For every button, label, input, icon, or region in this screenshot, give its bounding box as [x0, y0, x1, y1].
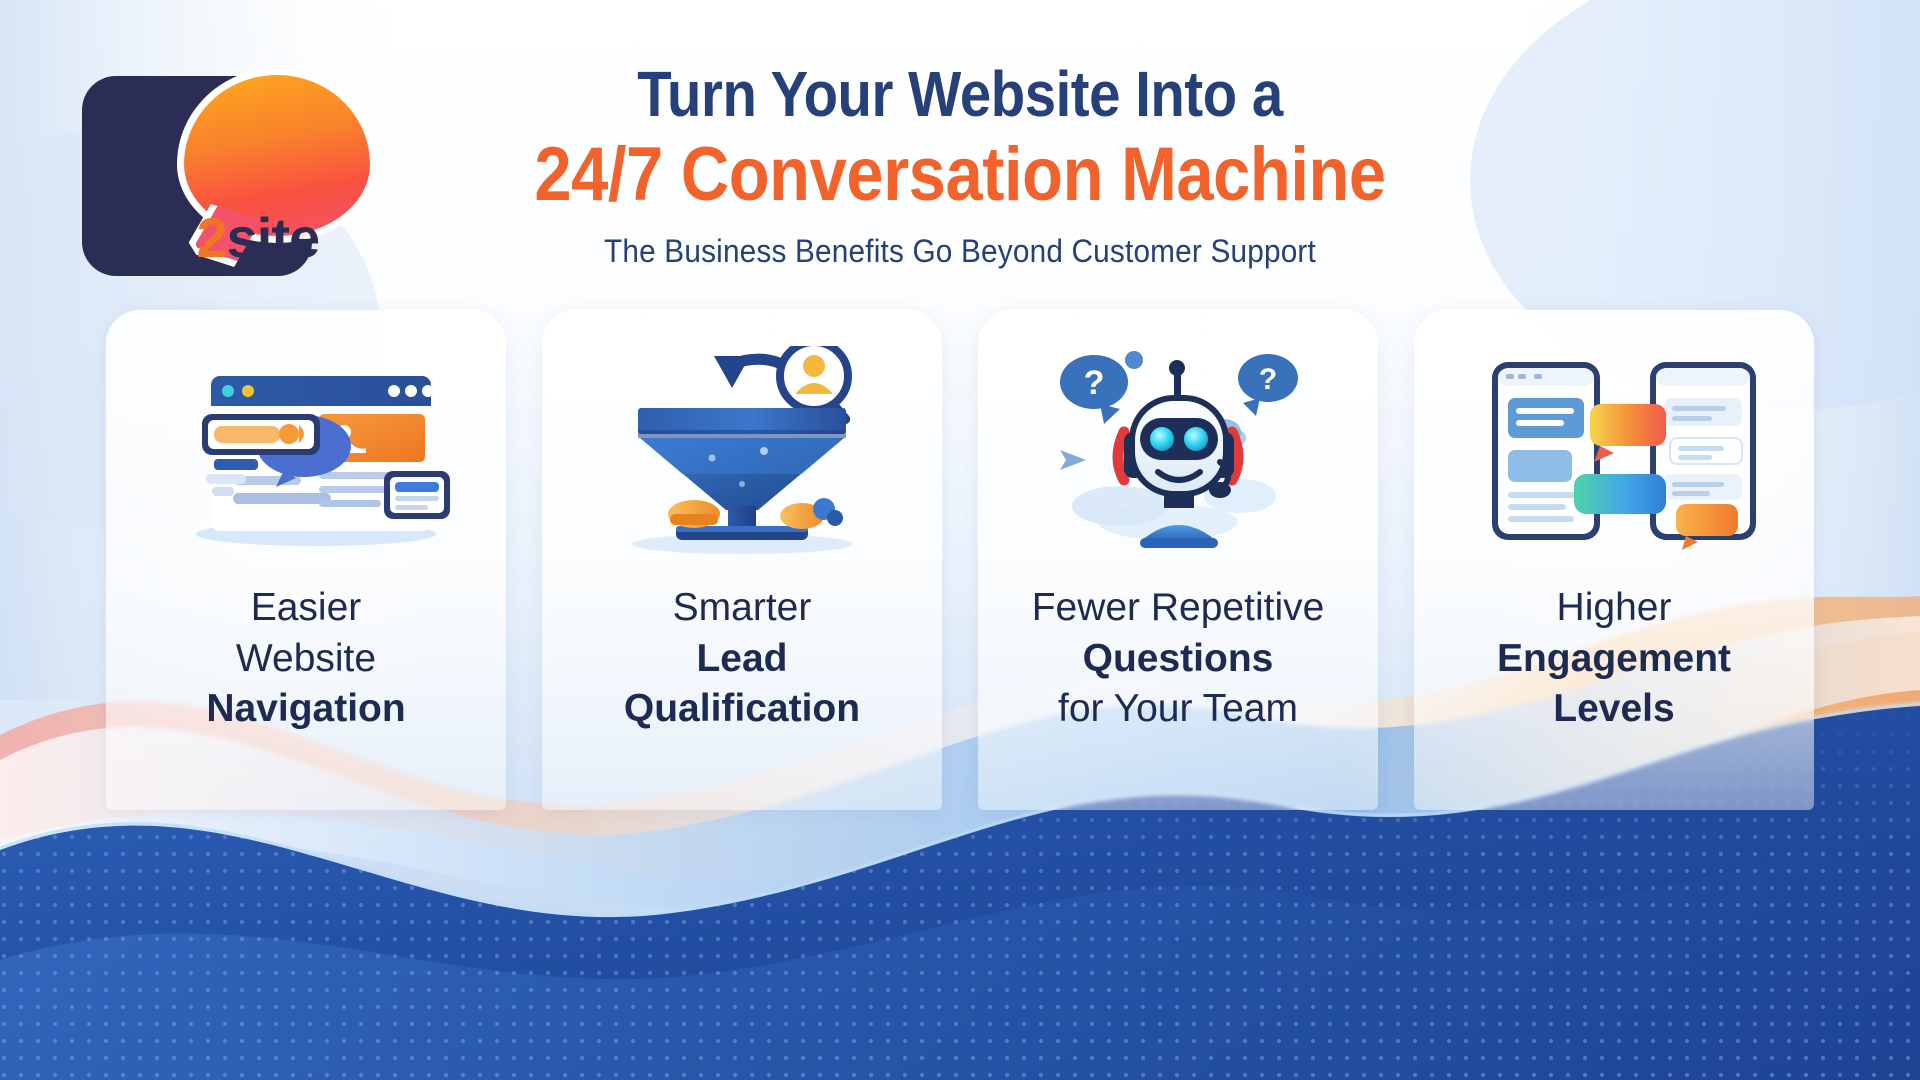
card-line-3: for Your Team	[1032, 684, 1325, 735]
card-line-1: Smarter	[624, 583, 860, 634]
benefit-card-fewer-questions[interactable]: ? ?	[978, 310, 1378, 810]
logo-wordmark: talk2site	[104, 205, 319, 270]
card-line-2: Questions	[1032, 634, 1325, 685]
headline-line-2: 24/7 Conversation Machine	[520, 135, 1400, 215]
logo-word-two: 2	[197, 206, 227, 269]
svg-text:?: ?	[1259, 363, 1277, 396]
card-line-1: Fewer Repetitive	[1032, 583, 1325, 634]
benefit-card-text: Higher Engagement Levels	[1497, 583, 1731, 735]
card-line-3: Navigation	[206, 684, 405, 735]
card-line-3: Qualification	[624, 684, 860, 735]
benefit-card-text: Easier Website Navigation	[206, 583, 405, 735]
headline-line-1: Turn Your Website Into a	[520, 62, 1400, 127]
brand-logo[interactable]: talk2site	[82, 76, 367, 276]
browser-window-chat-icon	[156, 346, 456, 561]
card-line-2: Website	[206, 634, 405, 685]
benefit-card-text: Fewer Repetitive Questions for Your Team	[1032, 583, 1325, 735]
benefit-card-row: Easier Website Navigation	[0, 310, 1920, 810]
benefit-card-lead-qualification[interactable]: Smarter Lead Qualification	[542, 310, 942, 810]
subheadline: The Business Benefits Go Beyond Customer…	[495, 233, 1425, 270]
chatbot-robot-icon: ? ?	[1028, 346, 1328, 561]
card-line-1: Easier	[206, 583, 405, 634]
logo-word-talk: talk	[104, 206, 197, 269]
card-line-1: Higher	[1497, 583, 1731, 634]
mobile-chat-screens-icon	[1464, 346, 1764, 561]
lead-funnel-icon	[592, 346, 892, 561]
svg-text:?: ?	[1084, 364, 1105, 402]
logo-word-site: site	[227, 206, 320, 269]
card-line-2: Lead	[624, 634, 860, 685]
header: talk2site Turn Your Website Into a 24/7 …	[0, 0, 1920, 300]
card-line-2: Engagement	[1497, 634, 1731, 685]
title-block: Turn Your Website Into a 24/7 Conversati…	[460, 62, 1460, 270]
benefit-card-engagement[interactable]: Higher Engagement Levels	[1414, 310, 1814, 810]
benefit-card-text: Smarter Lead Qualification	[624, 583, 860, 735]
card-line-3: Levels	[1497, 684, 1731, 735]
benefit-card-navigation[interactable]: Easier Website Navigation	[106, 310, 506, 810]
